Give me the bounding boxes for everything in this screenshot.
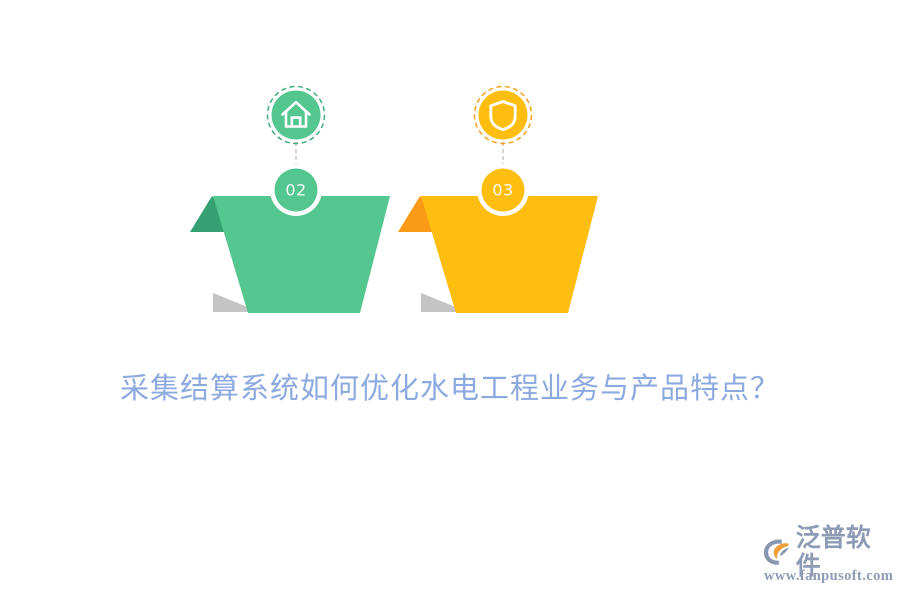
badge-label-02: 02	[270, 181, 322, 200]
icon-circle-02[interactable]	[272, 91, 321, 140]
page-title: 采集结算系统如何优化水电工程业务与产品特点？	[0, 368, 900, 408]
badge-label-03-wrap: 03	[477, 164, 529, 216]
infographic-artwork	[0, 0, 900, 600]
brand-logo[interactable]: 泛普软件 www.fanpusoft.com	[762, 535, 892, 587]
logo-row: 泛普软件	[762, 535, 892, 569]
fanpusoft-logo-mark-icon	[762, 537, 793, 567]
badge-label-02-wrap: 02	[270, 164, 322, 216]
badge-label-03: 03	[477, 181, 529, 200]
screenshot-canvas: 02 03 采集结算系统如何优化水电工程业务与产品特点？ 泛普软件 www.fa…	[0, 0, 900, 600]
logo-website-url: www.fanpusoft.com	[764, 568, 893, 585]
icon-circle-03[interactable]	[479, 91, 528, 140]
